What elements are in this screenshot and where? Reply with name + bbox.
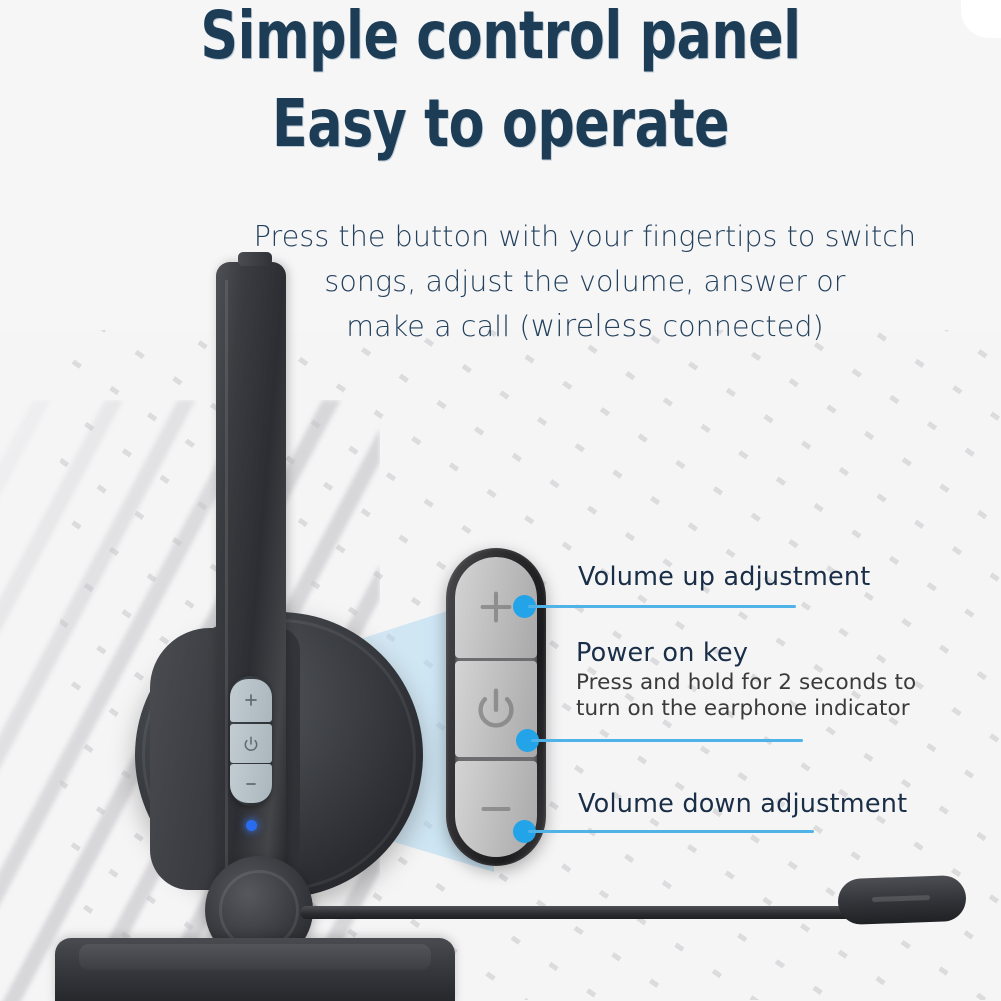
product-volume-down-button[interactable] xyxy=(230,764,272,803)
microphone-tip xyxy=(837,875,967,925)
microphone-boom xyxy=(300,906,860,919)
callout-volume-up: Volume up adjustment xyxy=(578,562,870,592)
product-control-panel[interactable] xyxy=(230,676,272,806)
callout-power-on: Power on key Press and hold for 2 second… xyxy=(576,638,916,721)
callout-volume-down: Volume down adjustment xyxy=(578,789,907,819)
callout-rule-volume-up xyxy=(528,605,796,608)
callout-description-power-on-line-1: Press and hold for 2 seconds to xyxy=(576,670,916,696)
headline-line-2: Easy to operate xyxy=(60,92,941,155)
subheading: Press the button with your fingertips to… xyxy=(190,214,980,349)
subheading-line-2: songs, adjust the volume, answer or xyxy=(190,259,980,304)
power-icon xyxy=(242,735,260,753)
subheading-line-3: make a call (wireless connected) xyxy=(190,304,980,349)
subheading-line-3-after: connected) xyxy=(653,310,824,343)
minus-icon xyxy=(243,776,259,792)
headband-seam xyxy=(225,280,228,902)
callout-description-power-on-line-2: turn on the earphone indicator xyxy=(576,696,916,722)
subheading-line-3-before: make a call ( xyxy=(346,310,530,343)
led-indicator xyxy=(246,820,257,831)
power-icon xyxy=(471,684,521,734)
product-volume-up-button[interactable] xyxy=(230,679,272,722)
plus-icon xyxy=(243,692,259,708)
product-power-button[interactable] xyxy=(230,724,272,763)
callout-title-volume-down: Volume down adjustment xyxy=(578,789,907,819)
charging-base-top xyxy=(79,944,431,970)
subheading-wireless-emphasis: wireless xyxy=(531,309,654,344)
enlarged-control-panel[interactable] xyxy=(446,548,546,866)
product-marketing-image: Simple control panel Easy to operate Pre… xyxy=(0,0,1001,1001)
microphone-grille xyxy=(872,895,930,902)
headband-notch xyxy=(238,252,272,266)
callout-title-volume-up: Volume up adjustment xyxy=(578,562,870,592)
headline-line-1: Simple control panel xyxy=(60,4,941,67)
callout-description-power-on: Press and hold for 2 seconds to turn on … xyxy=(576,670,916,721)
callout-title-power-on: Power on key xyxy=(576,638,916,668)
callout-rule-power-on xyxy=(531,739,803,742)
subheading-line-1: Press the button with your fingertips to… xyxy=(190,214,980,259)
minus-icon xyxy=(473,786,519,832)
charging-base xyxy=(55,938,455,1001)
headband xyxy=(216,262,286,902)
callout-rule-volume-down xyxy=(528,830,814,833)
